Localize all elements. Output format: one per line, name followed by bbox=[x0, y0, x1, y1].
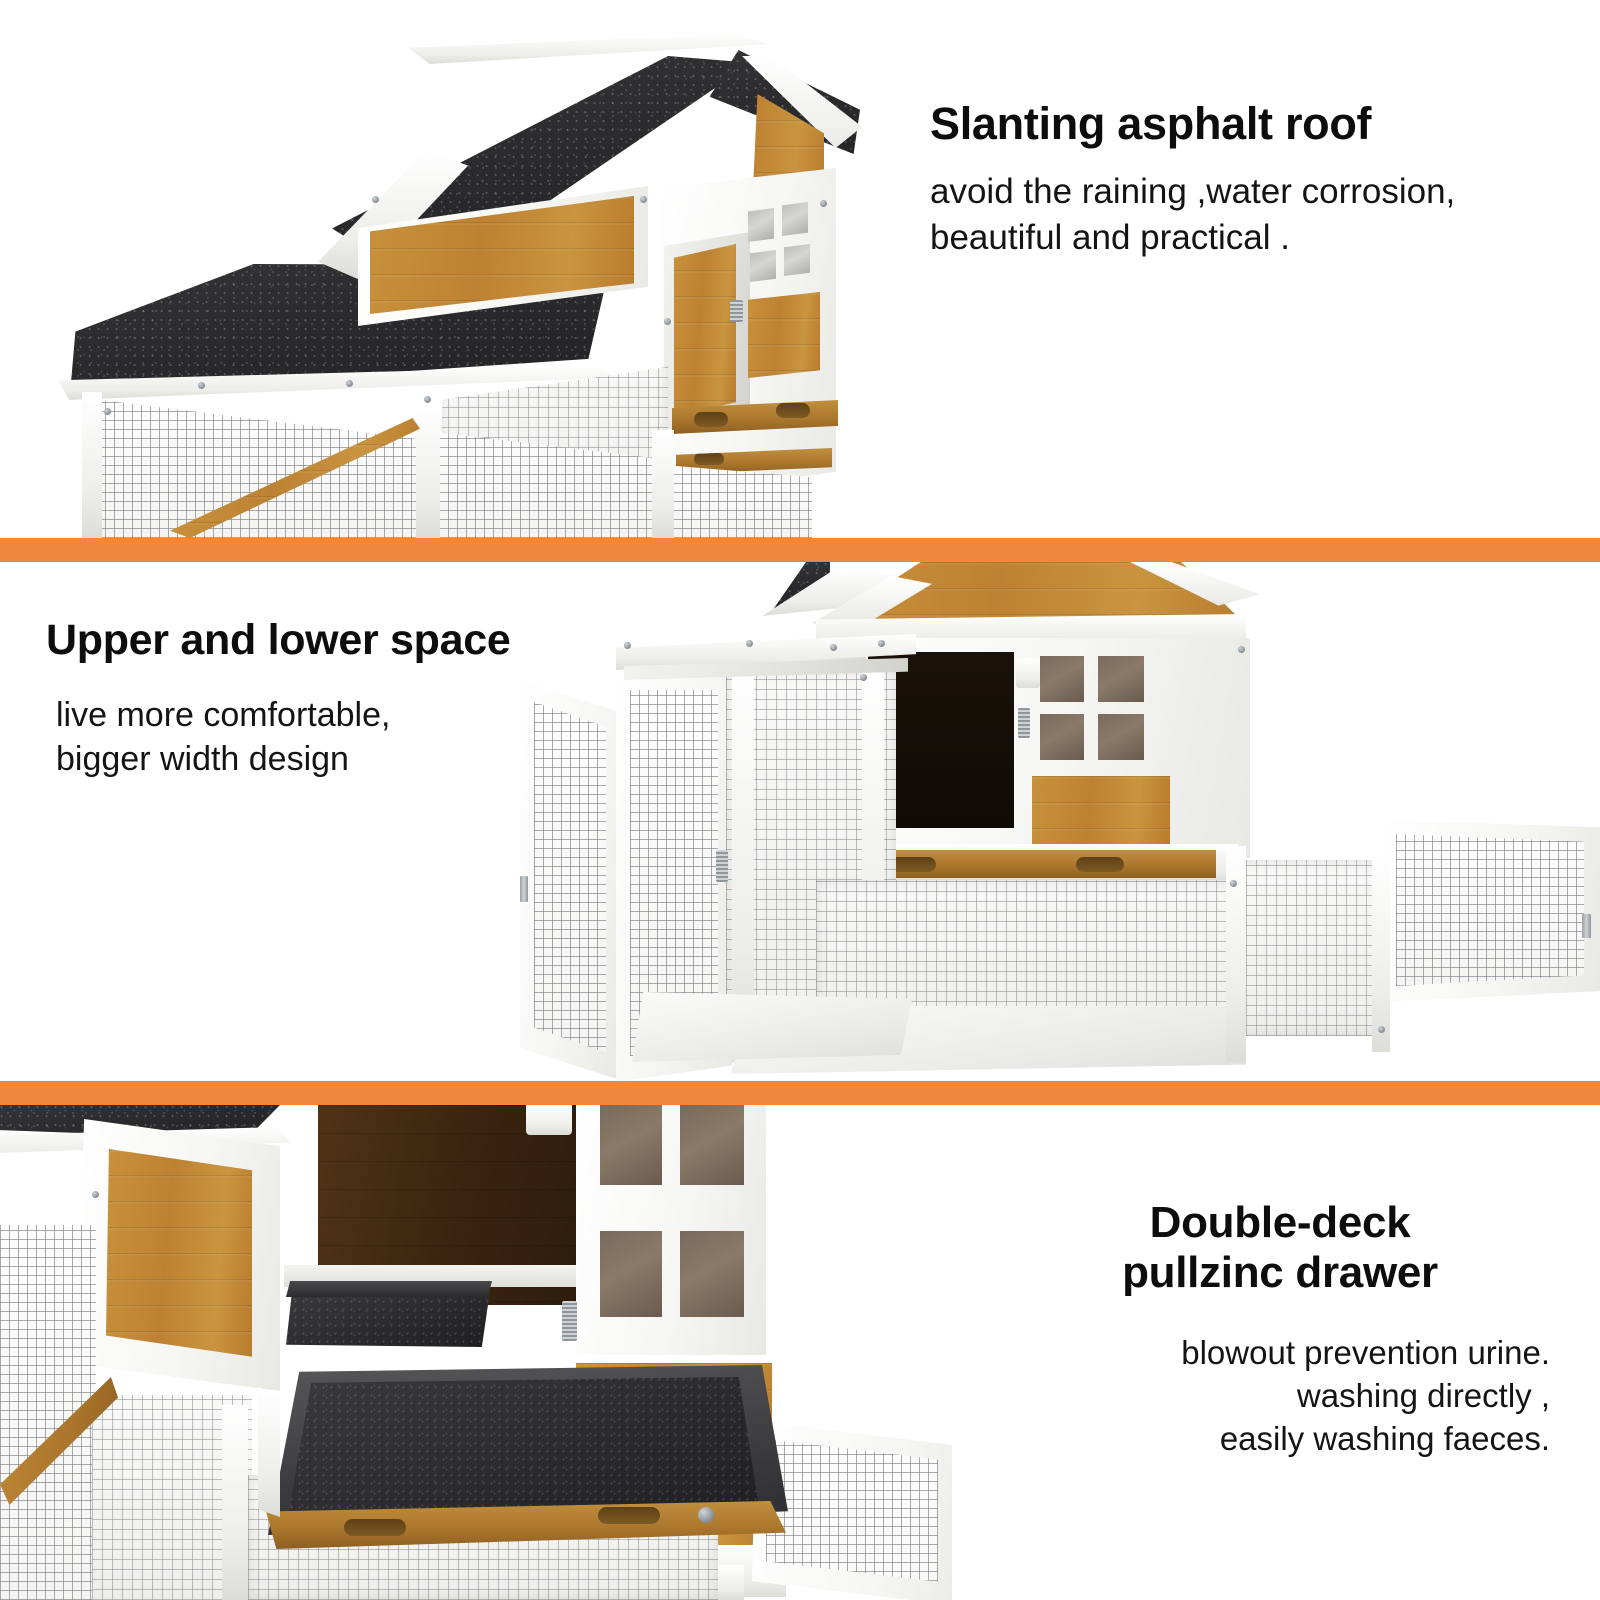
screw bbox=[104, 408, 111, 415]
run-right-post bbox=[1226, 846, 1246, 1062]
screw bbox=[664, 318, 671, 325]
screw bbox=[1378, 1026, 1385, 1033]
feature-headline-3: Double-deck pullzinc drawer bbox=[1010, 1198, 1550, 1298]
screw bbox=[1238, 646, 1245, 653]
screw bbox=[424, 396, 431, 403]
window-pane-bottom-left bbox=[1040, 714, 1084, 760]
run-left-mesh-side bbox=[96, 398, 426, 538]
drawer-assembly-3 bbox=[0, 1105, 960, 1600]
run-corner-post-mid bbox=[416, 404, 440, 538]
window-pane-top-left bbox=[748, 208, 774, 242]
drawer-finger-hole[interactable] bbox=[694, 453, 724, 465]
mesh-door-latch[interactable] bbox=[716, 850, 728, 882]
nest-door-wood bbox=[674, 244, 736, 416]
right-mesh-door-screen bbox=[1396, 834, 1584, 986]
window-pane-top-left bbox=[1040, 656, 1084, 702]
product-image-2 bbox=[520, 562, 1600, 1081]
screw bbox=[640, 196, 647, 203]
screw bbox=[830, 644, 837, 651]
feature-panel-1: Slanting asphalt roof avoid the raining … bbox=[0, 0, 1600, 538]
screw bbox=[624, 642, 631, 649]
product-image-1 bbox=[0, 0, 900, 538]
run-far-right-post bbox=[1372, 852, 1390, 1052]
drawer-side-rail bbox=[258, 1387, 280, 1517]
front-lower-wood-panel bbox=[1032, 776, 1170, 850]
front-lower-wood-panel bbox=[748, 292, 820, 378]
drawer-finger-hole[interactable] bbox=[344, 1519, 406, 1536]
run-corner-post-left bbox=[82, 392, 102, 538]
run-corner-post-right bbox=[652, 430, 674, 538]
screw bbox=[198, 382, 205, 389]
lower-zinc-tray-felt bbox=[282, 1377, 768, 1523]
feature-headline-1: Slanting asphalt roof bbox=[930, 98, 1570, 149]
feature-panel-3: Double-deck pullzinc drawer blowout prev… bbox=[0, 1105, 1600, 1600]
feature-subtext-1: avoid the raining ,water corrosion, beau… bbox=[930, 169, 1570, 260]
feature-text-1: Slanting asphalt roof avoid the raining … bbox=[930, 98, 1570, 260]
window-pane-top-right bbox=[1098, 656, 1144, 702]
left-mesh-door-screen bbox=[534, 702, 606, 1056]
window-pane-top-right bbox=[782, 202, 808, 236]
right-run-mesh bbox=[1236, 860, 1386, 1036]
door-latch[interactable] bbox=[730, 300, 743, 322]
screw bbox=[1230, 880, 1237, 887]
screw bbox=[860, 674, 867, 681]
roof-ridge-board bbox=[408, 34, 768, 64]
feature-text-3: Double-deck pullzinc drawer blowout prev… bbox=[1010, 1198, 1550, 1461]
window-pane-bottom-left bbox=[750, 250, 776, 282]
feature-panel-2: Upper and lower space live more comforta… bbox=[0, 562, 1600, 1081]
drawer-finger-hole[interactable] bbox=[776, 403, 810, 418]
orange-divider-1 bbox=[0, 538, 1600, 562]
door-hinge bbox=[520, 876, 528, 902]
screw bbox=[878, 640, 885, 647]
interior-latch-plate bbox=[1016, 658, 1040, 688]
screw bbox=[746, 640, 753, 647]
feature-subtext-3: blowout prevention urine. washing direct… bbox=[1010, 1332, 1550, 1461]
screw bbox=[372, 196, 379, 203]
infographic-page: Slanting asphalt roof avoid the raining … bbox=[0, 0, 1600, 1600]
drawer-finger-hole[interactable] bbox=[598, 1507, 660, 1524]
window-pane-bottom-right bbox=[784, 244, 810, 276]
drawer-screw bbox=[698, 1507, 714, 1523]
screw bbox=[820, 200, 827, 207]
window-pane-bottom-right bbox=[1098, 714, 1144, 760]
upper-deck-floor bbox=[632, 992, 912, 1062]
orange-divider-2 bbox=[0, 1081, 1600, 1105]
door-latch[interactable] bbox=[1018, 708, 1030, 738]
drawer-finger-hole[interactable] bbox=[1076, 857, 1124, 872]
screw bbox=[346, 380, 353, 387]
drawer-finger-hole[interactable] bbox=[694, 412, 728, 427]
door-hinge bbox=[1582, 914, 1591, 938]
